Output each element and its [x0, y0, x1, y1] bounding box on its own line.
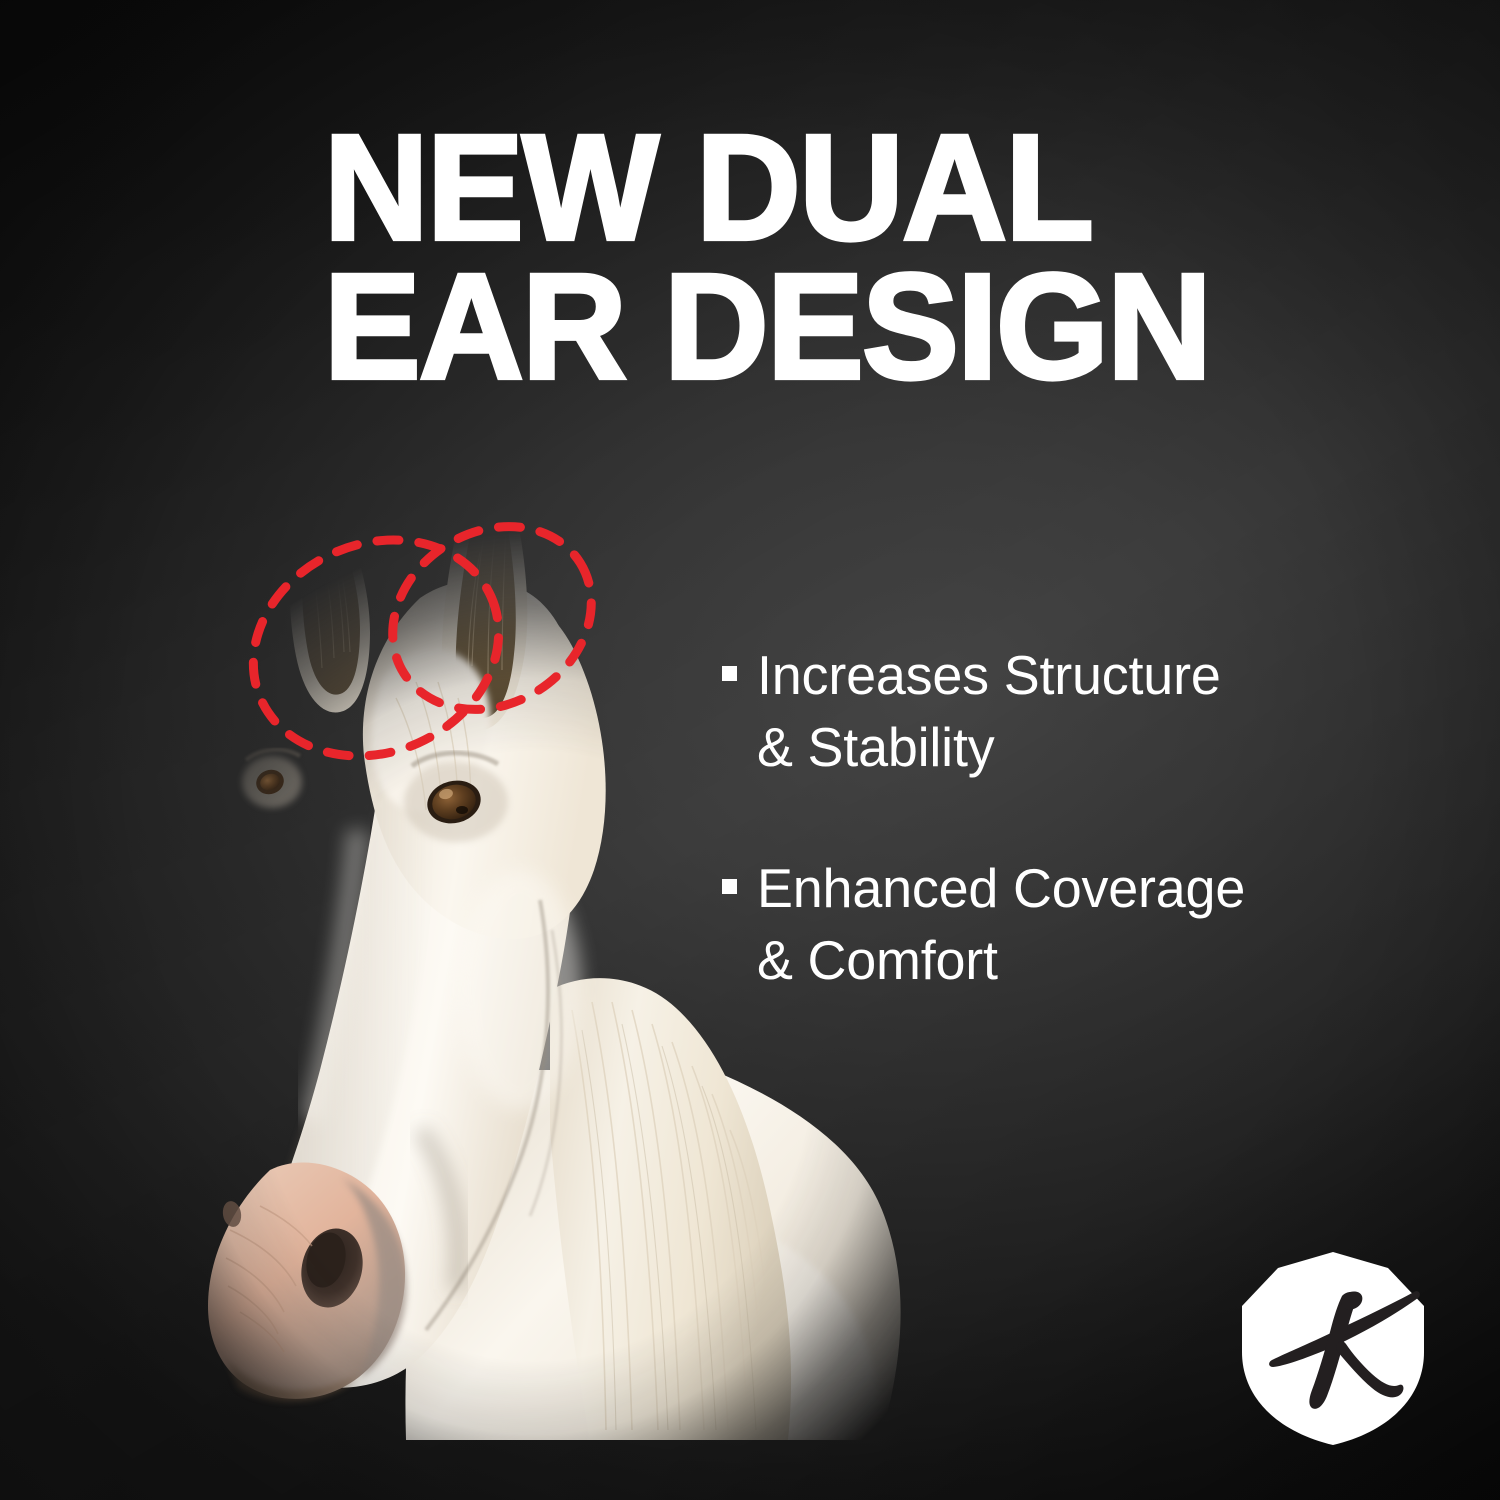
feature-text: Increases Structure & Stability: [757, 640, 1221, 783]
list-item: Increases Structure & Stability: [722, 640, 1422, 783]
shield-logo-mark: [1238, 1248, 1428, 1448]
headline-line-2: EAR DESIGN: [324, 257, 1289, 396]
cheek-highlight: [458, 870, 582, 1110]
list-item: Enhanced Coverage & Comfort: [722, 853, 1422, 996]
brand-logo: [1238, 1248, 1428, 1448]
headline-line-1: NEW DUAL: [324, 118, 1289, 257]
feature-list: Increases Structure & Stability Enhanced…: [722, 640, 1422, 1066]
promo-graphic: NEW DUAL EAR DESIGN: [0, 0, 1500, 1500]
headline: NEW DUAL EAR DESIGN: [324, 118, 1324, 396]
horse-left-ear: [289, 464, 370, 712]
square-bullet-icon: [722, 666, 737, 681]
horse-right-eye: [404, 762, 508, 842]
left-ear-inner: [302, 486, 360, 695]
square-bullet-icon: [722, 879, 737, 894]
feature-text: Enhanced Coverage & Comfort: [757, 853, 1245, 996]
horse-left-eye: [242, 756, 302, 808]
